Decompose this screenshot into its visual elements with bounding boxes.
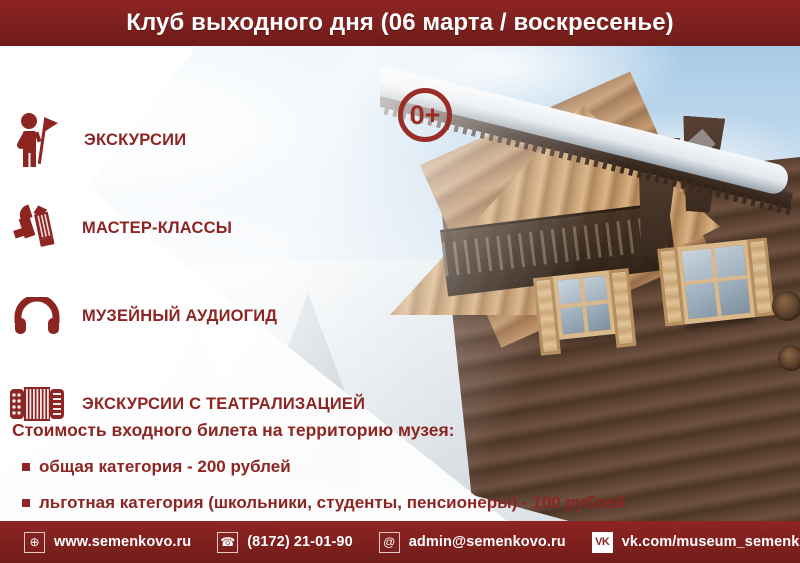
- service-item-excursions: ЭКСКУРСИИ: [0, 96, 430, 184]
- price-item: льготная категория (школьники, студенты,…: [22, 493, 752, 513]
- contact-text[interactable]: admin@semenkovo.ru: [409, 534, 566, 550]
- header-bar: Клуб выходного дня (06 марта / воскресен…: [0, 0, 800, 46]
- service-label: МУЗЕЙНЫЙ АУДИОГИД: [82, 307, 277, 326]
- price-item-text: льготная категория (школьники, студенты,…: [39, 493, 626, 513]
- footer-contact-bar: ⊕ www.semenkovo.ru ☎ (8172) 21-01-90 @ a…: [0, 521, 800, 563]
- window: [676, 239, 756, 324]
- bullet-square-icon: [22, 499, 30, 507]
- ticket-price-block: Стоимость входного билета на территорию …: [12, 420, 752, 529]
- poster: Клуб выходного дня (06 марта / воскресен…: [0, 0, 800, 563]
- email-icon: @: [379, 532, 400, 553]
- window: [552, 270, 616, 340]
- service-label: ЭКСКУРСИИ: [84, 131, 186, 150]
- contact-text[interactable]: www.semenkovo.ru: [54, 534, 191, 550]
- tour-guide-icon: [0, 112, 74, 168]
- brush-pencil-icon: [0, 203, 74, 253]
- contact-text[interactable]: vk.com/museum_semenkovo: [622, 534, 800, 550]
- globe-icon: ⊕: [24, 532, 45, 553]
- contact-text[interactable]: (8172) 21-01-90: [247, 534, 353, 550]
- accordion-icon: [0, 384, 74, 424]
- contact-website[interactable]: ⊕ www.semenkovo.ru: [24, 532, 191, 553]
- price-block-title: Стоимость входного билета на территорию …: [12, 420, 752, 441]
- contact-phone[interactable]: ☎ (8172) 21-01-90: [217, 532, 353, 553]
- log-end: [772, 291, 800, 321]
- price-item-text: общая категория - 200 рублей: [39, 457, 291, 477]
- contact-vk[interactable]: VK vk.com/museum_semenkovo: [592, 532, 800, 553]
- service-item-master-classes: МАСТЕР-КЛАССЫ: [0, 184, 430, 272]
- service-label: МАСТЕР-КЛАССЫ: [82, 219, 232, 238]
- headphones-icon: [0, 297, 74, 335]
- services-list: ЭКСКУРСИИ: [0, 96, 430, 448]
- vk-icon: VK: [592, 532, 613, 553]
- contact-email[interactable]: @ admin@semenkovo.ru: [379, 532, 566, 553]
- phone-icon: ☎: [217, 532, 238, 553]
- service-label: ЭКСКУРСИИ С ТЕАТРАЛИЗАЦИЕЙ: [82, 395, 365, 414]
- service-item-audioguide: МУЗЕЙНЫЙ АУДИОГИД: [0, 272, 430, 360]
- price-item: общая категория - 200 рублей: [22, 457, 752, 477]
- bullet-square-icon: [22, 463, 30, 471]
- page-title: Клуб выходного дня (06 марта / воскресен…: [126, 9, 674, 37]
- log-end: [778, 345, 800, 371]
